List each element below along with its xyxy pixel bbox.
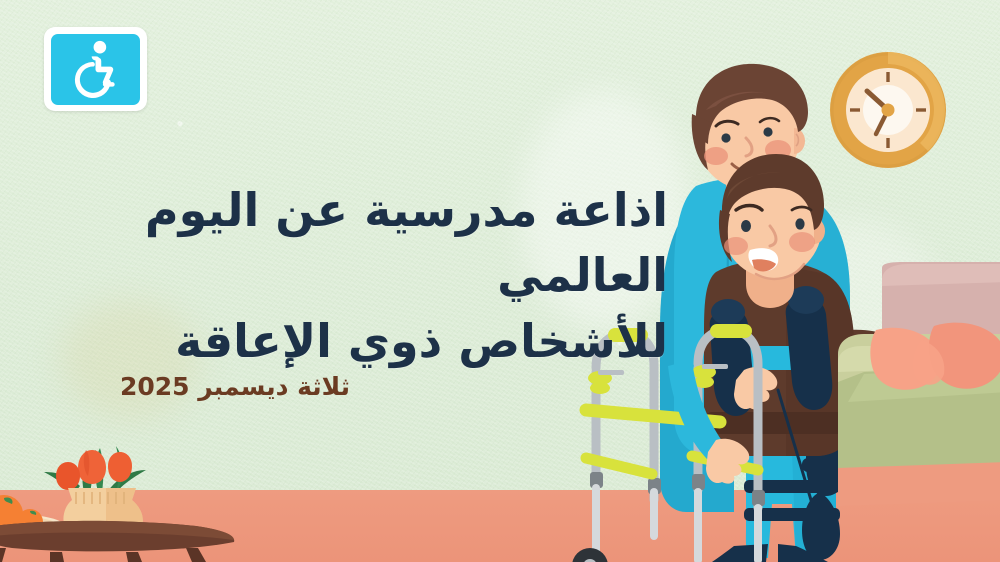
poster-canvas: اذاعة مدرسية عن اليوم العالمي للأشخاص ذو… xyxy=(0,0,1000,562)
title-line-2: للأشخاص ذوي الإعاقة xyxy=(0,309,668,374)
sofa xyxy=(838,262,1000,522)
poster-title: اذاعة مدرسية عن اليوم العالمي للأشخاص ذو… xyxy=(0,178,690,374)
accessibility-badge xyxy=(44,27,147,111)
accessibility-badge-fill xyxy=(51,34,140,105)
wheelchair-accessibility-icon xyxy=(65,38,127,100)
side-table xyxy=(0,432,242,562)
poster-date: ثلاثة ديسمبر 2025 xyxy=(0,372,470,401)
title-line-1: اذاعة مدرسية عن اليوم العالمي xyxy=(0,178,668,309)
